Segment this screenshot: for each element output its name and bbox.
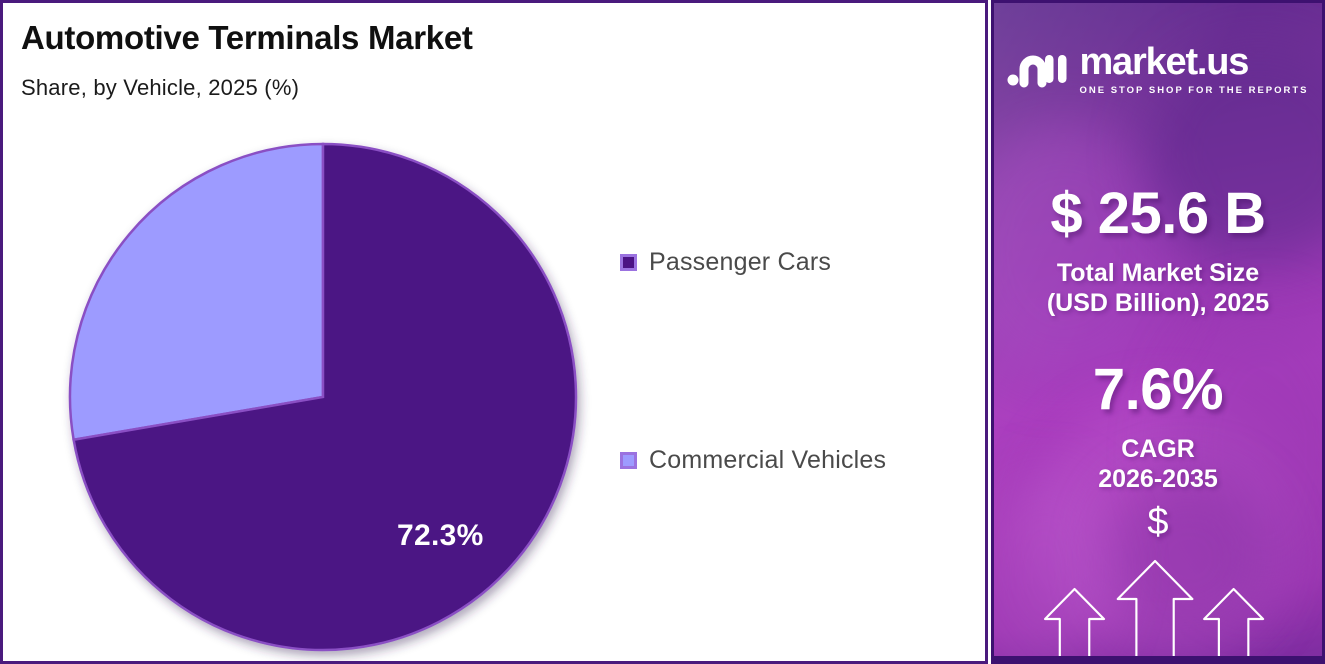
- panel-bottom-bar: [994, 656, 1322, 661]
- stat-total-market-size: $ 25.6 B Total Market Size (USD Billion)…: [994, 185, 1322, 318]
- page-title: Automotive Terminals Market: [21, 19, 473, 57]
- dollar-sign-icon: $: [994, 503, 1322, 541]
- stat-caption-line-2: 2026-2035: [994, 465, 1322, 495]
- brand-panel: market.us ONE STOP SHOP FOR THE REPORTS …: [991, 0, 1325, 664]
- brand-logo[interactable]: market.us ONE STOP SHOP FOR THE REPORTS: [994, 43, 1322, 96]
- legend-swatch-icon: [620, 452, 637, 469]
- brand-logo-text: market.us ONE STOP SHOP FOR THE REPORTS: [1079, 43, 1308, 96]
- infographic-root: Automotive Terminals Market Share, by Ve…: [0, 0, 1325, 664]
- growth-arrows-svg: [994, 541, 1322, 661]
- market-us-logo-icon: [1007, 49, 1069, 91]
- stat-caption-line-2: (USD Billion), 2025: [994, 289, 1322, 319]
- pie-chart: 72.3%: [67, 141, 579, 653]
- page-subtitle: Share, by Vehicle, 2025 (%): [21, 75, 299, 101]
- stat-value: 7.6%: [994, 361, 1322, 419]
- brand-wordmark: market.us: [1079, 43, 1308, 81]
- legend-label: Passenger Cars: [649, 248, 831, 277]
- legend-item-commercial-vehicles[interactable]: Commercial Vehicles: [620, 446, 886, 475]
- stat-caption: CAGR 2026-2035: [994, 435, 1322, 494]
- brand-tagline: ONE STOP SHOP FOR THE REPORTS: [1079, 85, 1308, 96]
- stat-caption-line-1: Total Market Size: [1057, 259, 1259, 287]
- chart-panel: Automotive Terminals Market Share, by Ve…: [0, 0, 988, 664]
- pie-slice-commercial-vehicles[interactable]: [70, 144, 323, 440]
- legend-swatch-icon: [620, 254, 637, 271]
- stat-value: $ 25.6 B: [994, 185, 1322, 243]
- legend-item-passenger-cars[interactable]: Passenger Cars: [620, 248, 831, 277]
- stat-cagr: 7.6% CAGR 2026-2035: [994, 361, 1322, 494]
- pie-chart-svg: [67, 141, 579, 653]
- growth-arrows-icon: [994, 541, 1322, 661]
- legend-label: Commercial Vehicles: [649, 446, 886, 475]
- stat-caption-line-1: CAGR: [1121, 435, 1195, 463]
- pie-slice-label-passenger-cars: 72.3%: [397, 519, 484, 553]
- stat-caption: Total Market Size (USD Billion), 2025: [994, 259, 1322, 318]
